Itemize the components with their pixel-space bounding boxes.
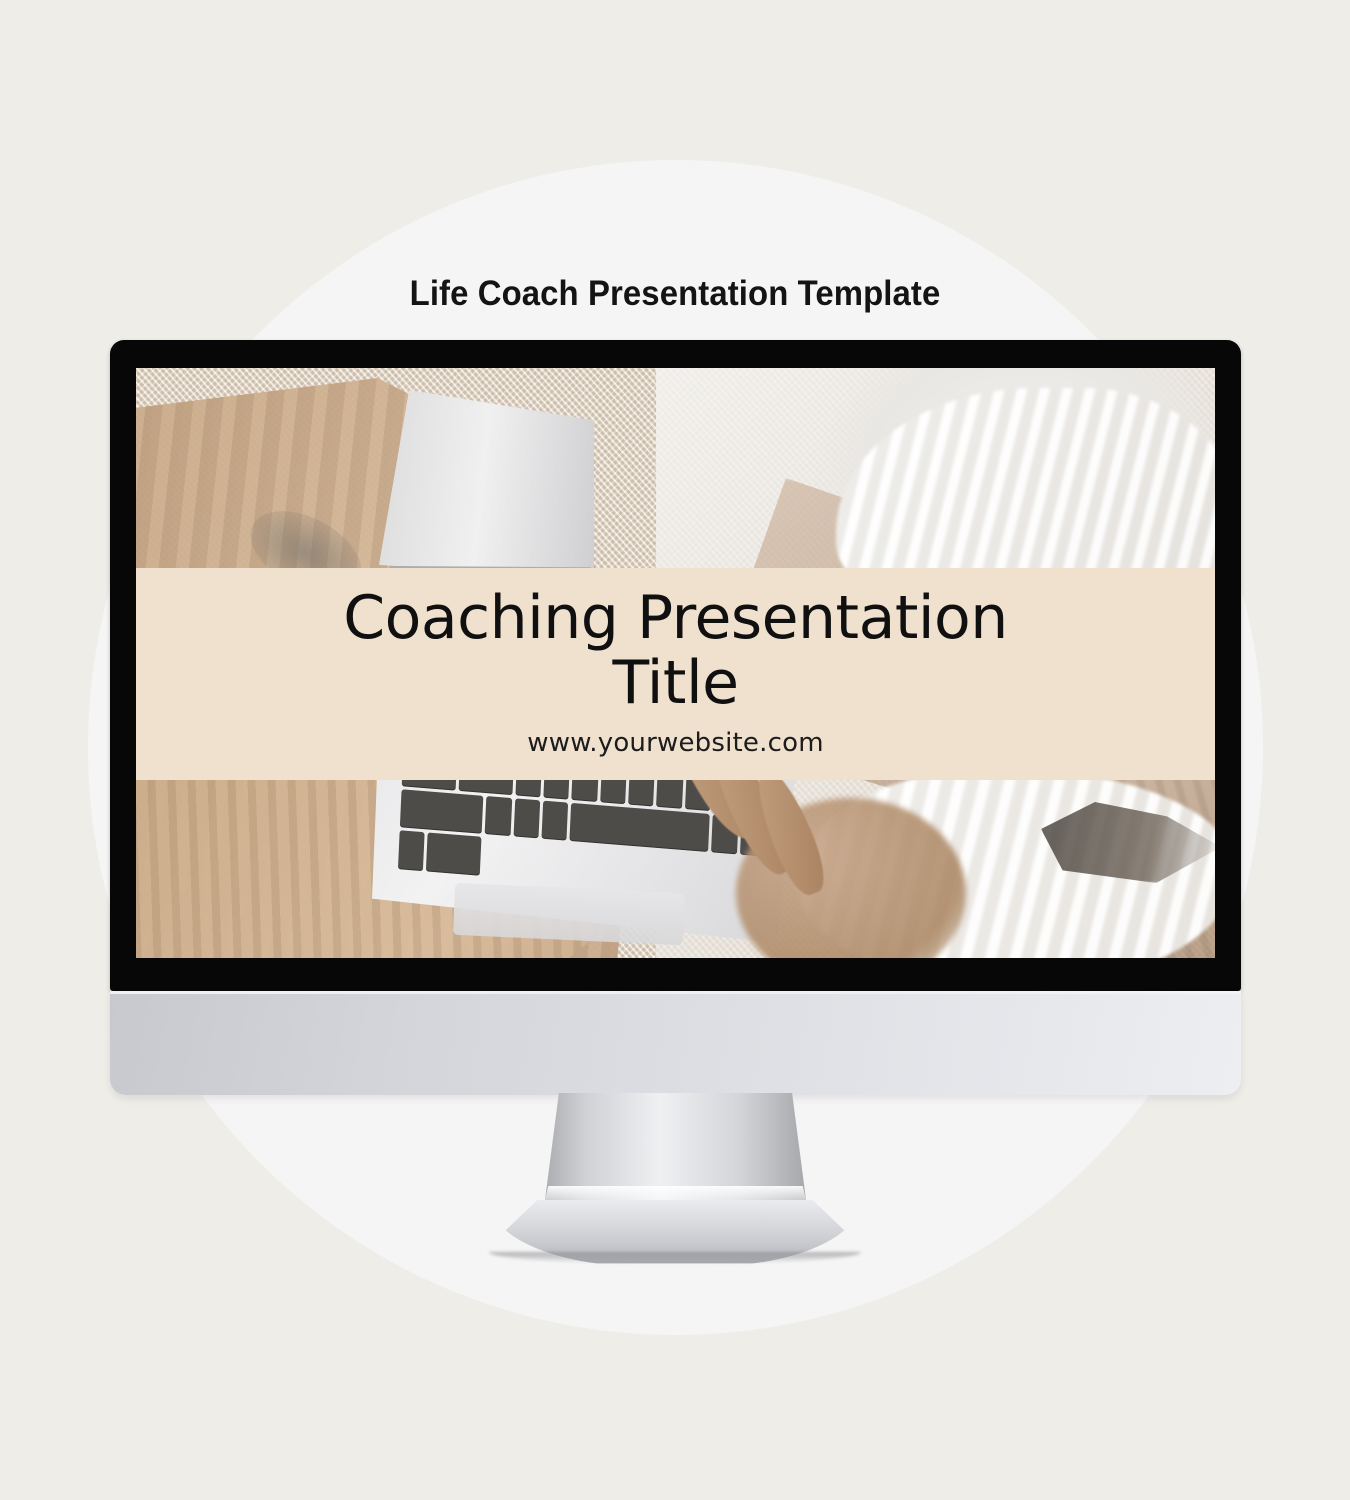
laptop-lid: [379, 390, 594, 580]
monitor-screen[interactable]: Coaching Presentation Title www.yourwebs…: [136, 368, 1215, 958]
keyboard-key: [426, 833, 481, 876]
mockup-stage: Life Coach Presentation Template: [0, 0, 1350, 1500]
slide-title: Coaching Presentation Title: [296, 586, 1056, 716]
keyboard-key-spacebar: [570, 803, 710, 853]
slide-title-band: Coaching Presentation Title www.yourwebs…: [136, 568, 1215, 780]
laptop-trackpad: [453, 883, 685, 945]
monitor-chin: [110, 991, 1241, 1095]
keyboard-key: [513, 798, 540, 839]
monitor-mockup: Coaching Presentation Title www.yourwebs…: [110, 340, 1241, 1095]
keyboard-key: [400, 789, 484, 834]
slide-website-url: www.yourwebsite.com: [527, 728, 823, 758]
keyboard-key: [398, 831, 425, 872]
keyboard-key: [541, 800, 568, 841]
keyboard-key: [485, 796, 512, 837]
monitor-bezel: Coaching Presentation Title www.yourwebs…: [110, 340, 1241, 991]
page-title: Life Coach Presentation Template: [41, 272, 1310, 316]
slide-background-photo: Coaching Presentation Title www.yourwebs…: [136, 368, 1215, 958]
